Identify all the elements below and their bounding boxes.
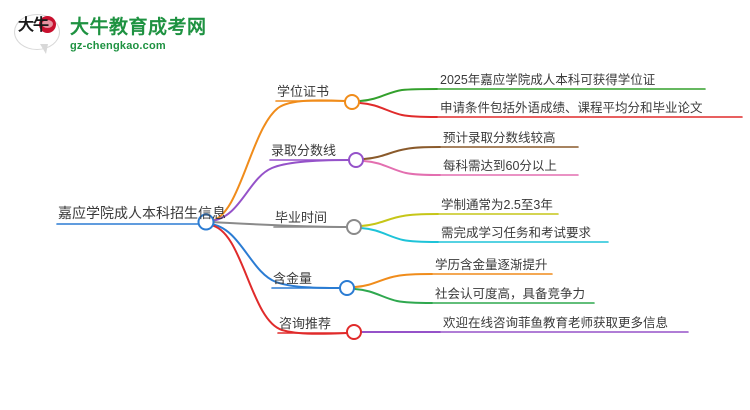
- link-branch-0-child-0: [360, 89, 437, 101]
- link-branch-2-child-0: [361, 214, 438, 226]
- branch-label-1[interactable]: 录取分数线: [271, 142, 336, 160]
- leaf-label-2-0[interactable]: 学制通常为2.5至3年: [441, 197, 553, 214]
- link-branch-1-child-0: [364, 147, 440, 159]
- branch-label-4[interactable]: 咨询推荐: [279, 315, 331, 333]
- branch-label-2[interactable]: 毕业时间: [275, 209, 327, 227]
- branch-label-3[interactable]: 含金量: [273, 270, 312, 288]
- root-node-label[interactable]: 嘉应学院成人本科招生信息: [58, 205, 226, 223]
- leaf-label-4-0[interactable]: 欢迎在线咨询菲鱼教育老师获取更多信息: [443, 315, 668, 332]
- link-branch-0-child-1: [360, 103, 437, 117]
- leaf-label-2-1[interactable]: 需完成学习任务和考试要求: [441, 225, 591, 242]
- leaf-label-0-1[interactable]: 申请条件包括外语成绩、课程平均分和毕业论文: [440, 100, 703, 117]
- link-branch-2-child-1: [361, 228, 438, 242]
- node-branch-0[interactable]: [345, 95, 359, 109]
- leaf-label-0-0[interactable]: 2025年嘉应学院成人本科可获得学位证: [440, 72, 655, 89]
- leaf-label-1-1[interactable]: 每科需达到60分以上: [443, 158, 557, 175]
- leaf-label-1-0[interactable]: 预计录取分数线较高: [443, 130, 556, 147]
- node-branch-2[interactable]: [347, 220, 361, 234]
- node-branch-3[interactable]: [340, 281, 354, 295]
- leaf-label-3-1[interactable]: 社会认可度高，具备竞争力: [435, 286, 585, 303]
- link-branch-3-child-1: [355, 289, 432, 303]
- link-branch-1-child-1: [364, 161, 440, 175]
- link-branch-3-child-0: [355, 274, 432, 287]
- node-branch-4[interactable]: [347, 325, 361, 339]
- node-branch-1[interactable]: [349, 153, 363, 167]
- leaf-label-3-0[interactable]: 学历含金量逐渐提升: [435, 257, 548, 274]
- branch-label-0[interactable]: 学位证书: [277, 83, 329, 101]
